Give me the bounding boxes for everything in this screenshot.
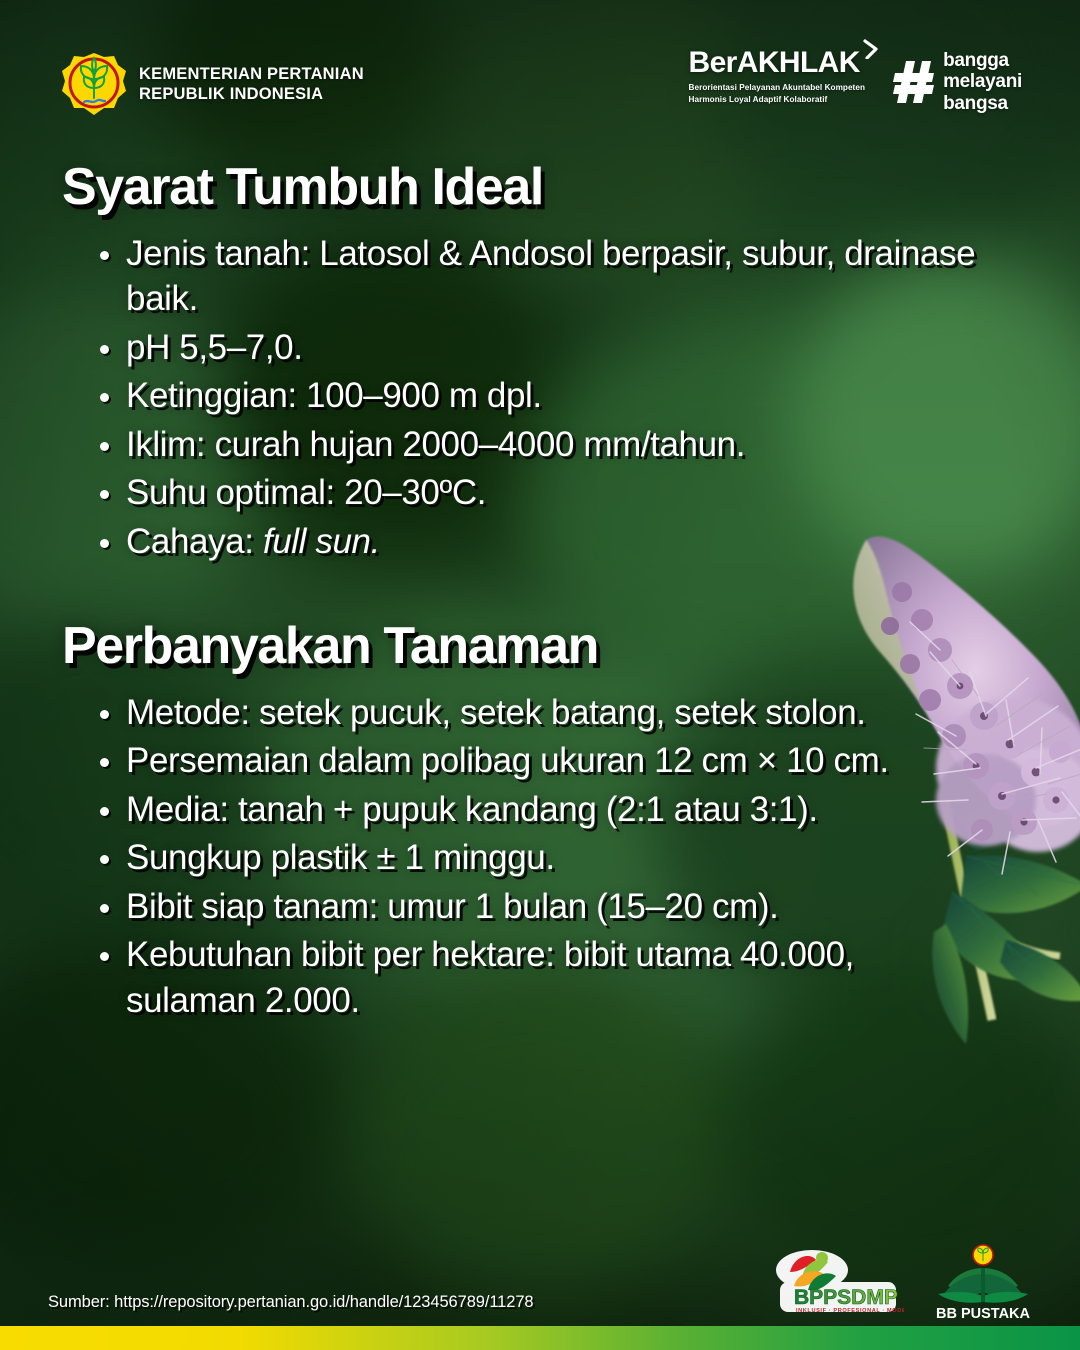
section-heading-1: Syarat Tumbuh Ideal [62,160,1080,215]
bangga-wordmark: bangga melayani bangsa [943,50,1022,114]
list-item: Persemaian dalam polibag ukuran 12 cm × … [98,738,986,784]
poster-canvas: KEMENTERIAN PERTANIAN REPUBLIK INDONESIA… [0,0,1080,1350]
bppsdmp-wordmark: BPPSDMP [794,1286,898,1309]
list-item: Media: tanah + pupuk kandang (2:1 atau 3… [98,787,986,833]
list-item: Metode: setek pucuk, setek batang, setek… [98,690,986,736]
list-item: Jenis tanah: Latosol & Andosol berpasir,… [98,231,986,322]
bppsdmp-logo: BPPSDMP INKLUSIF · PROFESIONAL · MODERN [772,1246,904,1322]
list-item: Iklim: curah hujan 2000–4000 mm/tahun. [98,422,986,468]
berakhlak-arrow-icon [863,39,879,59]
list-item: Bibit siap tanam: umur 1 bulan (15–20 cm… [98,884,986,930]
agriculture-ministry-seal-icon [62,52,126,116]
berakhlak-wordmark: BerAKHLAK [689,48,865,78]
ministry-logo-block: KEMENTERIAN PERTANIAN REPUBLIK INDONESIA [62,52,364,116]
berakhlak-logo-block: BerAKHLAK Berorientasi Pelayanan Akuntab… [689,48,865,105]
bppsdmp-tagline: INKLUSIF · PROFESIONAL · MODERN [796,1308,904,1314]
list-item: Cahaya: full sun. [98,519,986,565]
section-heading-2: Perbanyakan Tanaman [62,619,1080,674]
list-item: pH 5,5–7,0. [98,325,986,371]
hashtag-icon [893,59,935,105]
bullet-list-2: Metode: setek pucuk, setek batang, setek… [0,690,1080,1024]
section-spacer [0,567,1080,619]
ministry-name: KEMENTERIAN PERTANIAN REPUBLIK INDONESIA [139,64,364,104]
list-item: Kebutuhan bibit per hektare: bibit utama… [98,932,986,1023]
berakhlak-tagline: Berorientasi Pelayanan Akuntabel Kompete… [689,82,865,105]
source-citation: Sumber: https://repository.pertanian.go.… [48,1293,534,1312]
footer-logo-group: BPPSDMP INKLUSIF · PROFESIONAL · MODERN … [772,1244,1036,1322]
main-content: Syarat Tumbuh Ideal Jenis tanah: Latosol… [0,160,1080,1026]
bb-pustaka-logo: BB PUSTAKA [930,1244,1036,1322]
bottom-accent-bar [0,1326,1080,1350]
bangga-melayani-bangsa-block: bangga melayani bangsa [893,50,1022,114]
bullet-list-1: Jenis tanah: Latosol & Andosol berpasir,… [0,231,1080,565]
list-item: Suhu optimal: 20–30ºC. [98,470,986,516]
list-item: Sungkup plastik ± 1 minggu. [98,835,986,881]
list-item: Ketinggian: 100–900 m dpl. [98,373,986,419]
bb-pustaka-wordmark: BB PUSTAKA [936,1306,1031,1322]
